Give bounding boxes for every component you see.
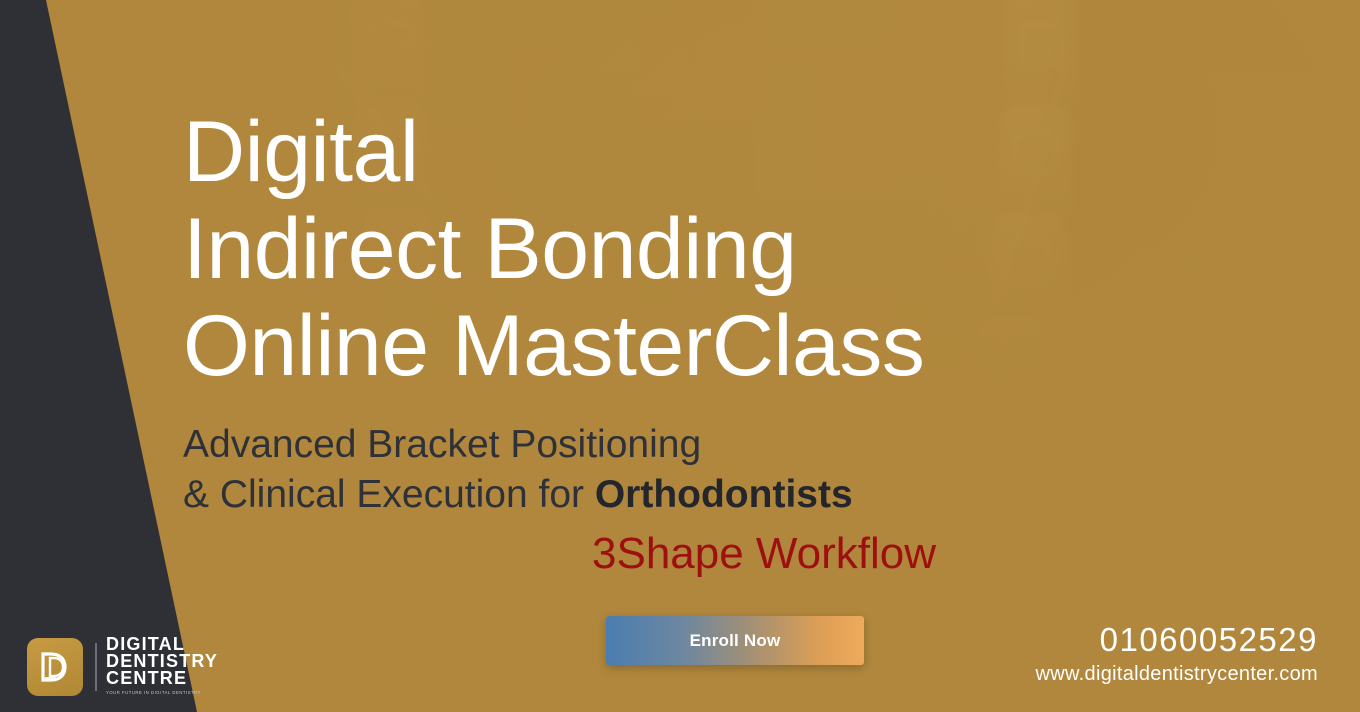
- subtitle-audience-emphasis: Orthodontists: [595, 473, 853, 516]
- logo-wordmark: DIGITAL DENTISTRY CENTRE YOUR FUTURE IN …: [106, 636, 218, 697]
- phone-number[interactable]: 01060052529: [1036, 620, 1318, 660]
- logo-divider: [95, 643, 97, 691]
- double-d-monogram-icon: [27, 638, 83, 696]
- contact-block: 01060052529 www.digitaldentistrycenter.c…: [1036, 620, 1318, 688]
- headline-block: Digital Indirect Bonding Online MasterCl…: [183, 104, 1183, 395]
- headline-line-3: Online MasterClass: [183, 298, 1183, 395]
- promo-banner: Digital Indirect Bonding Online MasterCl…: [0, 0, 1360, 712]
- headline-line-2: Indirect Bonding: [183, 201, 1183, 298]
- logo-word-centre: CENTRE: [106, 670, 218, 687]
- subtitle-line-1: Advanced Bracket Positioning: [183, 420, 1083, 470]
- subtitle-line-2: & Clinical Execution for Orthodontists: [183, 470, 1083, 520]
- subtitle-line-2-prefix: & Clinical Execution for: [183, 473, 595, 516]
- workflow-label: 3Shape Workflow: [592, 527, 936, 581]
- brand-logo[interactable]: DIGITAL DENTISTRY CENTRE YOUR FUTURE IN …: [27, 636, 218, 697]
- enroll-now-button[interactable]: Enroll Now: [606, 616, 864, 665]
- logo-tagline: YOUR FUTURE IN DIGITAL DENTISTRY: [106, 689, 218, 697]
- headline-line-1: Digital: [183, 104, 1183, 201]
- subtitle-block: Advanced Bracket Positioning & Clinical …: [183, 420, 1083, 520]
- website-url[interactable]: www.digitaldentistrycenter.com: [1036, 660, 1318, 688]
